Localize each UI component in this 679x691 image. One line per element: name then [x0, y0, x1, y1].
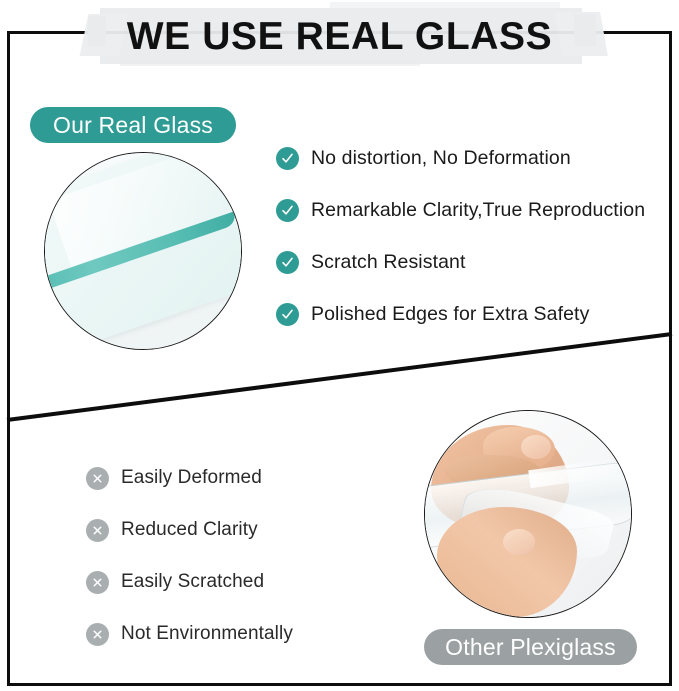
x-circle-icon	[86, 467, 109, 490]
x-circle-icon	[86, 519, 109, 542]
list-item-label: No distortion, No Deformation	[311, 147, 571, 170]
check-circle-icon	[276, 251, 299, 274]
pro-feature-list: No distortion, No Deformation Remarkable…	[276, 132, 671, 340]
list-item-label: Reduced Clarity	[121, 519, 258, 541]
brushstroke-speck	[330, 2, 560, 9]
list-item-label: Easily Scratched	[121, 571, 264, 593]
con-feature-list: Easily Deformed Reduced Clarity Easily S…	[86, 452, 466, 660]
real-glass-photo	[44, 152, 242, 350]
check-circle-icon	[276, 147, 299, 170]
list-item: Reduced Clarity	[86, 504, 466, 556]
fingernail-upper	[521, 435, 551, 459]
list-item: Remarkable Clarity,True Reproduction	[276, 184, 671, 236]
check-circle-icon	[276, 199, 299, 222]
check-circle-icon	[276, 303, 299, 326]
list-item: Polished Edges for Extra Safety	[276, 288, 671, 340]
brushstroke-speck	[120, 60, 420, 66]
badge-our-real-glass: Our Real Glass	[30, 107, 236, 143]
list-item-label: Easily Deformed	[121, 467, 262, 489]
badge-other-plexiglass-label: Other Plexiglass	[445, 634, 616, 661]
list-item: Scratch Resistant	[276, 236, 671, 288]
list-item-label: Remarkable Clarity,True Reproduction	[311, 199, 645, 222]
plexiglass-photo	[424, 410, 632, 618]
badge-our-real-glass-label: Our Real Glass	[53, 112, 213, 139]
list-item-label: Not Environmentally	[121, 623, 293, 645]
page-title: WE USE REAL GLASS	[0, 15, 679, 59]
list-item: No distortion, No Deformation	[276, 132, 671, 184]
x-circle-icon	[86, 571, 109, 594]
list-item-label: Polished Edges for Extra Safety	[311, 303, 589, 326]
list-item: Easily Deformed	[86, 452, 466, 504]
fingernail-lower	[503, 529, 535, 555]
x-circle-icon	[86, 623, 109, 646]
list-item: Easily Scratched	[86, 556, 466, 608]
badge-other-plexiglass: Other Plexiglass	[424, 629, 637, 665]
list-item-label: Scratch Resistant	[311, 251, 466, 274]
list-item: Not Environmentally	[86, 608, 466, 660]
comparison-infographic: WE USE REAL GLASS Our Real Glass No dist…	[0, 0, 679, 691]
